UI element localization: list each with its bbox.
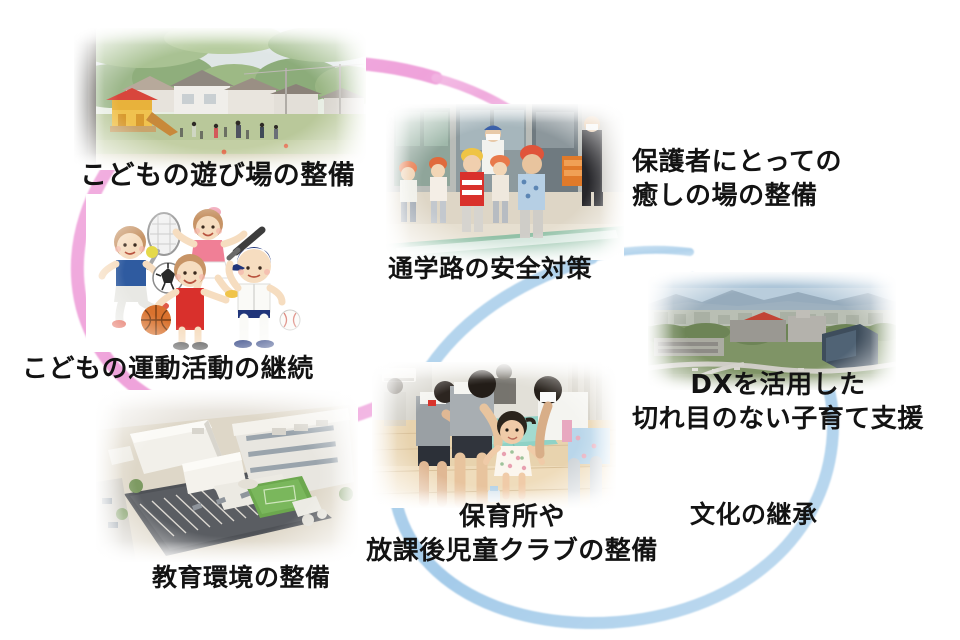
label-school-route-safety: 通学路の安全対策: [388, 253, 592, 286]
label-healing-place: 保護者にとっての 癒しの場の整備: [632, 146, 842, 214]
label-dx-childcare-support: DXを活用した 切れ目のない子育て支援: [628, 369, 928, 437]
playground-photo: [74, 28, 366, 170]
label-nursery-afterschool: 保育所や 放課後児童クラブの整備: [352, 501, 672, 569]
school-aerial-photo: [96, 390, 358, 562]
diagram-canvas: こどもの遊び場の整備 保護者にとっての 癒しの場の整備 通学路の安全対策 こども…: [0, 0, 960, 640]
school-route-photo: [386, 104, 624, 260]
label-sports-continuation: こどもの運動活動の継続: [22, 353, 314, 387]
label-culture-inheritance: 文化の継承: [690, 499, 818, 532]
label-playground: こどもの遊び場の整備: [80, 158, 355, 193]
nursery-photo: [372, 362, 616, 508]
label-education-environment: 教育環境の整備: [152, 562, 331, 595]
sports-illustration: [86, 194, 338, 352]
